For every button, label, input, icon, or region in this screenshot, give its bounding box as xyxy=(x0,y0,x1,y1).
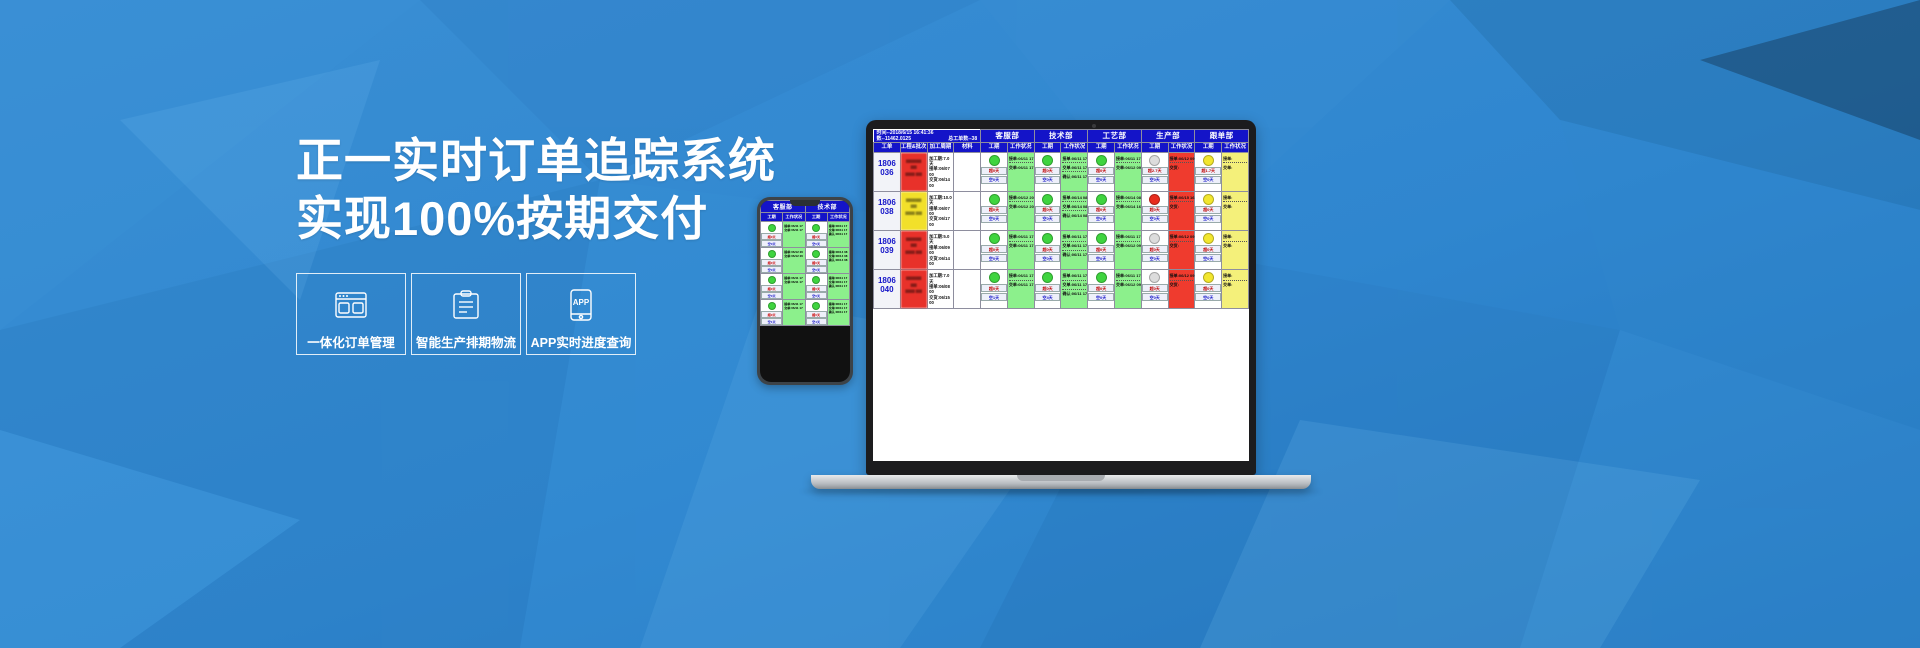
processing-cycle-cell: 加工期:7.0天接单:06/07 00交货:06/14 00 xyxy=(927,152,954,191)
col-header-duration-2: 工期 xyxy=(1088,143,1115,153)
overdue-badge: 超0天 xyxy=(981,245,1007,253)
work-status-cell-工艺部: 接单:06/11 17交单:06/12 09 xyxy=(1115,270,1142,309)
overdue-badge: 超0天 xyxy=(1142,206,1168,214)
idle-badge: 空0天 xyxy=(1142,293,1168,301)
overdue-badge: 超0天 xyxy=(1035,284,1061,292)
status-dot xyxy=(989,194,1000,205)
col-header-status-3: 工作状况 xyxy=(1168,143,1195,153)
idle-badge: 空0天 xyxy=(1088,215,1114,223)
overdue-badge: 超0天 xyxy=(1035,245,1061,253)
idle-badge: 空0天 xyxy=(761,292,782,299)
order-number-cell: 1806040 xyxy=(874,270,901,309)
col-header-project: 工程&批次 xyxy=(900,143,927,153)
status-line: 交单: xyxy=(1223,204,1247,209)
duration-cell-工艺部: 超0天空0天 xyxy=(1088,231,1115,270)
feature-card-order-management[interactable]: 一体化订单管理 xyxy=(296,273,406,355)
work-status-cell-技术部: 接单:06/11 17交单:06/11 17确认:06/11 17 xyxy=(1061,152,1088,191)
duration-cell-工艺部: 超0天空0天 xyxy=(1088,152,1115,191)
processing-cycle-cell: 加工期:7.0天接单:06/08 00交货:06/15 00 xyxy=(927,270,954,309)
col-header-material: 材料 xyxy=(954,143,981,153)
overdue-badge: 超0天 xyxy=(761,233,782,240)
status-line: 接单:06/14 08 xyxy=(1116,195,1140,200)
duration-cell-跟单部: 超0天空0天 xyxy=(1195,270,1222,309)
status-line: 交货: xyxy=(1170,204,1194,209)
work-status-cell-客服部: 接单:06/11 17交单:06/11 17 xyxy=(1007,231,1034,270)
project-batch-cell: ▆▆▆▆▆▆▆▆▆▆ ▆▆ xyxy=(900,152,927,191)
idle-badge: 空0天 xyxy=(981,254,1007,262)
duration-cell-跟单部: 超1.7天空0天 xyxy=(1195,152,1222,191)
idle-badge: 空0天 xyxy=(981,176,1007,184)
phone-status-cell-0: 接单:06/11 17交单:06/11 17 xyxy=(783,222,805,248)
overdue-badge: 超0天 xyxy=(1088,206,1114,214)
phone-subheader-duration-1: 工期 xyxy=(805,213,827,222)
status-dot xyxy=(1096,194,1107,205)
phone-status-cell-1: 接单:06/11 17交单:06/11 17确认:06/11 17 xyxy=(827,222,849,248)
project-batch-cell: ▆▆▆▆▆▆▆▆▆▆ ▆▆ xyxy=(900,270,927,309)
status-line: 交单:06/11 17 xyxy=(1009,165,1033,170)
status-line: 接单: xyxy=(1223,273,1247,278)
work-status-cell-生产部: 接单:06/12 09交货: xyxy=(1168,152,1195,191)
status-line: 交单:06/11 17 xyxy=(1062,165,1086,170)
feature-card-app-progress-query[interactable]: APP APP实时进度查询 xyxy=(526,273,636,355)
status-dot xyxy=(1042,155,1053,166)
phone-status-cell-0: 接单:06/11 17交单:06/11 17 xyxy=(783,274,805,300)
status-line: 交货: xyxy=(1170,165,1194,170)
dept-header-0: 客服部 xyxy=(981,130,1035,143)
duration-cell-跟单部: 超0天空0天 xyxy=(1195,231,1222,270)
status-line: 接单:06/15 16 xyxy=(1170,195,1194,200)
col-header-cycle: 加工周期 xyxy=(927,143,954,153)
overdue-badge: 超0天 xyxy=(761,311,782,318)
status-line: 交单:06/11 17 xyxy=(1062,282,1086,287)
idle-badge: 空0天 xyxy=(761,266,782,273)
status-line: 接单: xyxy=(1223,156,1247,161)
status-dot xyxy=(1203,272,1214,283)
work-status-cell-跟单部: 接单:交单: xyxy=(1222,270,1249,309)
overdue-badge: 超0天 xyxy=(1142,245,1168,253)
phone-subheader-duration-0: 工期 xyxy=(761,213,783,222)
duration-cell-工艺部: 超0天空0天 xyxy=(1088,191,1115,230)
work-status-cell-工艺部: 接单:06/11 17交单:06/12 09 xyxy=(1115,152,1142,191)
browser-window-icon xyxy=(335,287,367,323)
material-cell xyxy=(954,231,981,270)
duration-cell-技术部: 超0天空0天 xyxy=(1034,152,1061,191)
col-header-status-2: 工作状况 xyxy=(1115,143,1142,153)
status-line: 接单:06/11 17 xyxy=(1009,273,1033,278)
status-line: 交单:06/12 09 xyxy=(1116,243,1140,248)
status-dot xyxy=(812,224,820,232)
mobile-app-icon: APP xyxy=(569,287,593,323)
material-cell xyxy=(954,152,981,191)
idle-badge: 空4天 xyxy=(806,318,827,325)
duration-cell-客服部: 超0天空0天 xyxy=(981,191,1008,230)
idle-badge: 空0天 xyxy=(1195,176,1221,184)
duration-cell-客服部: 超0天空1天 xyxy=(981,270,1008,309)
laptop-base xyxy=(811,475,1311,489)
status-line: 接单:06/11 17 xyxy=(1062,273,1086,278)
phone-table-row[interactable]: 超0天空1天接单:06/11 17交单:06/11 17超0天空4天接单:06/… xyxy=(761,300,850,326)
duration-cell-技术部: 超0天空0天 xyxy=(1034,231,1061,270)
status-dot xyxy=(989,272,1000,283)
col-header-duration-1: 工期 xyxy=(1034,143,1061,153)
feature-list: 一体化订单管理 智能生产排期物流 APP xyxy=(296,273,776,355)
processing-cycle-cell: 加工期:5.0天接单:06/09 00交货:06/14 00 xyxy=(927,231,954,270)
feature-card-production-scheduling[interactable]: 智能生产排期物流 xyxy=(411,273,521,355)
material-cell xyxy=(954,270,981,309)
idle-badge: 空0天 xyxy=(1142,215,1168,223)
status-line: 确认:06/11 17 xyxy=(1062,174,1086,179)
status-line: 交单:06/12 09 xyxy=(1116,282,1140,287)
idle-badge: 空0天 xyxy=(806,292,827,299)
duration-cell-生产部: 超0天空0天 xyxy=(1141,191,1168,230)
work-status-cell-工艺部: 接单:06/11 17交单:06/12 09 xyxy=(1115,231,1142,270)
status-line: 确认:06/14 08 xyxy=(1062,213,1086,218)
work-status-cell-跟单部: 接单:交单: xyxy=(1222,191,1249,230)
phone-status-cell-1: 接单:06/11 17交单:06/11 17确认:06/11 17 xyxy=(827,274,849,300)
material-cell xyxy=(954,191,981,230)
idle-badge: 空1天 xyxy=(761,318,782,325)
idle-badge: 空0天 xyxy=(1195,254,1221,262)
status-total-orders: 总工单数--38 xyxy=(948,136,977,142)
work-status-cell-跟单部: 接单:交单: xyxy=(1222,231,1249,270)
status-line: 确认:06/11 17 xyxy=(1062,252,1086,257)
phone-duration-cell-1: 超0天空0天 xyxy=(805,248,827,274)
status-dot xyxy=(812,302,820,310)
col-header-status-4: 工作状况 xyxy=(1222,143,1249,153)
col-header-status-1: 工作状况 xyxy=(1061,143,1088,153)
phone-duration-cell-0: 超0天空1天 xyxy=(761,300,783,326)
status-line: 交货: xyxy=(1170,282,1194,287)
duration-cell-客服部: 超0天空0天 xyxy=(981,152,1008,191)
idle-badge: 空0天 xyxy=(1142,254,1168,262)
col-header-duration-0: 工期 xyxy=(981,143,1008,153)
overdue-badge: 超0天 xyxy=(1088,245,1114,253)
status-line: 接单: xyxy=(1223,195,1247,200)
phone-table-row[interactable]: 超0天空0天接单:06/11 17交单:06/11 17超0天空0天接单:06/… xyxy=(761,274,850,300)
status-line: 接单:06/11 17 xyxy=(1062,156,1086,161)
status-line: 接单: xyxy=(1223,234,1247,239)
work-status-cell-工艺部: 接单:06/14 08交单:06/14 16 xyxy=(1115,191,1142,230)
status-line: 交单:06/14 08 xyxy=(1062,204,1086,209)
phone-duration-cell-0: 超0天空0天 xyxy=(761,222,783,248)
idle-badge: 空0天 xyxy=(1088,293,1114,301)
phone-status-cell-1: 接单:06/11 17交单:06/11 17确认:06/11 17 xyxy=(827,300,849,326)
status-line: 确认:06/11 17 xyxy=(1062,291,1086,296)
status-dot xyxy=(1096,233,1107,244)
phone-duration-cell-0: 超0天空0天 xyxy=(761,274,783,300)
dept-header-2: 工艺部 xyxy=(1088,130,1142,143)
phone-dashboard-table[interactable]: 客服部 技术部 工期 工作状况 工期 工作状况 超0天空0天接单:06/11 1… xyxy=(760,200,850,326)
svg-text:APP: APP xyxy=(573,298,590,307)
status-line: 接单:06/12 09 xyxy=(1170,234,1194,239)
idle-badge: 空0天 xyxy=(1195,293,1221,301)
status-dot xyxy=(1149,272,1160,283)
phone-duration-cell-1: 超0天空0天 xyxy=(805,222,827,248)
overdue-badge: 超0天 xyxy=(1088,284,1114,292)
status-line: 交单:06/12 09 xyxy=(1116,165,1140,170)
phone-screen[interactable]: 客服部 技术部 工期 工作状况 工期 工作状况 超0天空0天接单:06/11 1… xyxy=(760,200,850,382)
idle-badge: 空1天 xyxy=(981,293,1007,301)
work-status-cell-客服部: 接单:06/11 17交单:06/11 17 xyxy=(1007,152,1034,191)
idle-badge: 空0天 xyxy=(1142,176,1168,184)
status-dot xyxy=(812,276,820,284)
overdue-badge: 超0天 xyxy=(806,259,827,266)
status-dot xyxy=(1096,272,1107,283)
overdue-badge: 超0天 xyxy=(1035,206,1061,214)
column-header-row: 工单 工程&批次 加工周期 材料 工期 工作状况 工期 工作状况 工期 工作状况… xyxy=(874,143,1249,153)
processing-cycle-cell: 加工期:10.0天接单:06/07 00交货:06/17 00 xyxy=(927,191,954,230)
idle-badge: 空0天 xyxy=(981,215,1007,223)
overdue-badge: 超0天 xyxy=(981,167,1007,175)
overdue-badge: 超0天 xyxy=(981,206,1007,214)
status-line: 交单:06/11 17 xyxy=(1009,243,1033,248)
status-line: 交单: xyxy=(1223,165,1247,170)
work-status-cell-跟单部: 接单:交单: xyxy=(1222,152,1249,191)
status-line: 接单:06/11 17 xyxy=(1009,156,1033,161)
col-header-duration-4: 工期 xyxy=(1195,143,1222,153)
dept-header-4: 跟单部 xyxy=(1195,130,1249,143)
status-line: 交单:06/11 17 xyxy=(1009,282,1033,287)
col-header-status-0: 工作状况 xyxy=(1007,143,1034,153)
order-number-cell: 1806036 xyxy=(874,152,901,191)
table-row[interactable]: 1806040▆▆▆▆▆▆▆▆▆▆ ▆▆加工期:7.0天接单:06/08 00交… xyxy=(874,270,1249,309)
status-line: 接单:06/11 17 xyxy=(1062,234,1086,239)
overdue-badge: 超0天 xyxy=(806,311,827,318)
phone-duration-cell-1: 超0天空0天 xyxy=(805,274,827,300)
status-line: 接单:06/14 08 xyxy=(1062,195,1086,200)
col-header-duration-3: 工期 xyxy=(1141,143,1168,153)
phone-table-row[interactable]: 超0天空0天接单:06/11 17交单:06/11 17超0天空0天接单:06/… xyxy=(761,222,850,248)
overdue-badge: 超0天 xyxy=(1088,167,1114,175)
headline-line-2: 实现100%按期交付 xyxy=(296,190,776,248)
idle-badge: 空0天 xyxy=(1035,254,1061,262)
feature-label-production-scheduling: 智能生产排期物流 xyxy=(416,332,516,351)
phone-notch xyxy=(790,200,820,206)
webcam-icon xyxy=(1092,124,1096,128)
status-line: 接单:06/12 09 xyxy=(1170,156,1194,161)
table-row[interactable]: 1806039▆▆▆▆▆▆▆▆▆▆ ▆▆加工期:5.0天接单:06/09 00交… xyxy=(874,231,1249,270)
phone-mockup: 客服部 技术部 工期 工作状况 工期 工作状况 超0天空0天接单:06/11 1… xyxy=(757,197,853,385)
work-status-cell-客服部: 接单:06/11 17交单:06/11 17 xyxy=(1007,270,1034,309)
status-line: 接单:06/11 17 xyxy=(1116,234,1140,239)
phone-status-cell-0: 接单:06/12 20交单:06/12 20 xyxy=(783,248,805,274)
duration-cell-客服部: 超0天空0天 xyxy=(981,231,1008,270)
status-line: 接单:06/11 17 xyxy=(1116,273,1140,278)
status-line: 接单:06/12 20 xyxy=(1009,195,1033,200)
duration-cell-生产部: 超0天空0天 xyxy=(1141,231,1168,270)
feature-label-app-progress-query: APP实时进度查询 xyxy=(531,332,632,351)
work-status-cell-技术部: 接单:06/14 08交单:06/14 08确认:06/14 08 xyxy=(1061,191,1088,230)
phone-table-row[interactable]: 超0天空0天接单:06/12 20交单:06/12 20超0天空0天接单:06/… xyxy=(761,248,850,274)
phone-status-cell-0: 接单:06/11 17交单:06/11 17 xyxy=(783,300,805,326)
status-dot xyxy=(1149,233,1160,244)
duration-cell-技术部: 超0天空4天 xyxy=(1034,270,1061,309)
clipboard-icon xyxy=(452,287,480,323)
phone-duration-cell-1: 超0天空4天 xyxy=(805,300,827,326)
status-dot xyxy=(989,155,1000,166)
overdue-badge: 超0天 xyxy=(1195,206,1221,214)
work-status-cell-生产部: 接单:06/12 09交货: xyxy=(1168,231,1195,270)
status-line: 接单:06/12 09 xyxy=(1170,273,1194,278)
overdue-badge: 超0天 xyxy=(1035,167,1061,175)
status-line: 交单:06/11 17 xyxy=(1062,243,1086,248)
overdue-badge: 超0天 xyxy=(1195,245,1221,253)
status-dot xyxy=(1149,194,1160,205)
table-row[interactable]: 1806038▆▆▆▆▆▆▆▆▆▆ ▆▆加工期:10.0天接单:06/07 00… xyxy=(874,191,1249,230)
status-line: 交货: xyxy=(1170,243,1194,248)
phone-subheader-status-1: 工作状况 xyxy=(827,213,849,222)
status-dot xyxy=(1203,233,1214,244)
hero-copy: 正一实时订单追踪系统 实现100%按期交付 一体化订单管理 xyxy=(296,132,776,355)
status-dot xyxy=(812,250,820,258)
laptop-shadow xyxy=(801,489,1321,494)
col-header-order: 工单 xyxy=(874,143,901,153)
status-number: 数--11462.0125 xyxy=(877,136,911,142)
status-line: 交单:06/14 16 xyxy=(1116,204,1140,209)
idle-badge: 空0天 xyxy=(761,240,782,247)
idle-badge: 空0天 xyxy=(1088,176,1114,184)
laptop-lid: 时间--2018/6/15 16:41:36 数--11462.0125 总工单… xyxy=(866,120,1256,475)
status-dot xyxy=(768,276,776,284)
status-dot xyxy=(1203,194,1214,205)
overdue-badge: 超0天 xyxy=(761,259,782,266)
duration-cell-生产部: 超0天空0天 xyxy=(1141,270,1168,309)
feature-label-order-management: 一体化订单管理 xyxy=(307,332,395,351)
status-line: 交单: xyxy=(1223,243,1247,248)
status-line: 交单:06/12 20 xyxy=(1009,204,1033,209)
work-status-cell-技术部: 接单:06/11 17交单:06/11 17确认:06/11 17 xyxy=(1061,231,1088,270)
status-line: 接单:06/11 17 xyxy=(1009,234,1033,239)
status-dot xyxy=(989,233,1000,244)
overdue-badge: 超0天 xyxy=(806,285,827,292)
table-row[interactable]: 1806036▆▆▆▆▆▆▆▆▆▆ ▆▆加工期:7.0天接单:06/07 00交… xyxy=(874,152,1249,191)
status-dot xyxy=(768,224,776,232)
phone-status-cell-1: 接单:06/14 08交单:06/14 08确认:06/14 08 xyxy=(827,248,849,274)
status-dot xyxy=(1042,194,1053,205)
overdue-badge: 超0天 xyxy=(1195,284,1221,292)
idle-badge: 空0天 xyxy=(1088,254,1114,262)
overdue-badge: 超0天 xyxy=(981,284,1007,292)
work-status-cell-生产部: 接单:06/12 09交货: xyxy=(1168,270,1195,309)
status-line: 交单: xyxy=(1223,282,1247,287)
overdue-badge: 超1.7天 xyxy=(1195,167,1221,175)
status-dot xyxy=(1042,233,1053,244)
idle-badge: 空0天 xyxy=(1035,215,1061,223)
dept-header-3: 生产部 xyxy=(1141,130,1195,143)
overdue-badge: 超0天 xyxy=(806,233,827,240)
duration-cell-工艺部: 超0天空0天 xyxy=(1088,270,1115,309)
overdue-badge: 超0天 xyxy=(1142,284,1168,292)
duration-cell-跟单部: 超0天空0天 xyxy=(1195,191,1222,230)
headline-line-1: 正一实时订单追踪系统 xyxy=(296,132,776,190)
overdue-badge: 超0天 xyxy=(761,285,782,292)
status-dot xyxy=(1096,155,1107,166)
status-dot xyxy=(768,250,776,258)
idle-badge: 空0天 xyxy=(1195,215,1221,223)
order-tracking-table[interactable]: 时间--2018/6/15 16:41:36 数--11462.0125 总工单… xyxy=(873,129,1249,309)
idle-badge: 空0天 xyxy=(806,240,827,247)
work-status-cell-生产部: 接单:06/15 16交货: xyxy=(1168,191,1195,230)
project-batch-cell: ▆▆▆▆▆▆▆▆▆▆ ▆▆ xyxy=(900,191,927,230)
work-status-cell-客服部: 接单:06/12 20交单:06/12 20 xyxy=(1007,191,1034,230)
phone-subheader-status-0: 工作状况 xyxy=(783,213,805,222)
work-status-cell-技术部: 接单:06/11 17交单:06/11 17确认:06/11 17 xyxy=(1061,270,1088,309)
order-number-cell: 1806039 xyxy=(874,231,901,270)
status-bar-row: 时间--2018/6/15 16:41:36 数--11462.0125 总工单… xyxy=(874,130,1249,143)
duration-cell-生产部: 超2.7天空0天 xyxy=(1141,152,1168,191)
idle-badge: 空4天 xyxy=(1035,293,1061,301)
idle-badge: 空0天 xyxy=(1035,176,1061,184)
status-dot xyxy=(1203,155,1214,166)
status-line: 接单:06/11 17 xyxy=(1116,156,1140,161)
order-number-cell: 1806038 xyxy=(874,191,901,230)
status-dot xyxy=(768,302,776,310)
laptop-screen[interactable]: 时间--2018/6/15 16:41:36 数--11462.0125 总工单… xyxy=(873,129,1249,461)
status-dot xyxy=(1042,272,1053,283)
idle-badge: 空0天 xyxy=(806,266,827,273)
overdue-badge: 超2.7天 xyxy=(1142,167,1168,175)
project-batch-cell: ▆▆▆▆▆▆▆▆▆▆ ▆▆ xyxy=(900,231,927,270)
duration-cell-技术部: 超0天空0天 xyxy=(1034,191,1061,230)
laptop-mockup: 时间--2018/6/15 16:41:36 数--11462.0125 总工单… xyxy=(866,120,1321,494)
status-dot xyxy=(1149,155,1160,166)
phone-duration-cell-0: 超0天空0天 xyxy=(761,248,783,274)
dept-header-1: 技术部 xyxy=(1034,130,1088,143)
